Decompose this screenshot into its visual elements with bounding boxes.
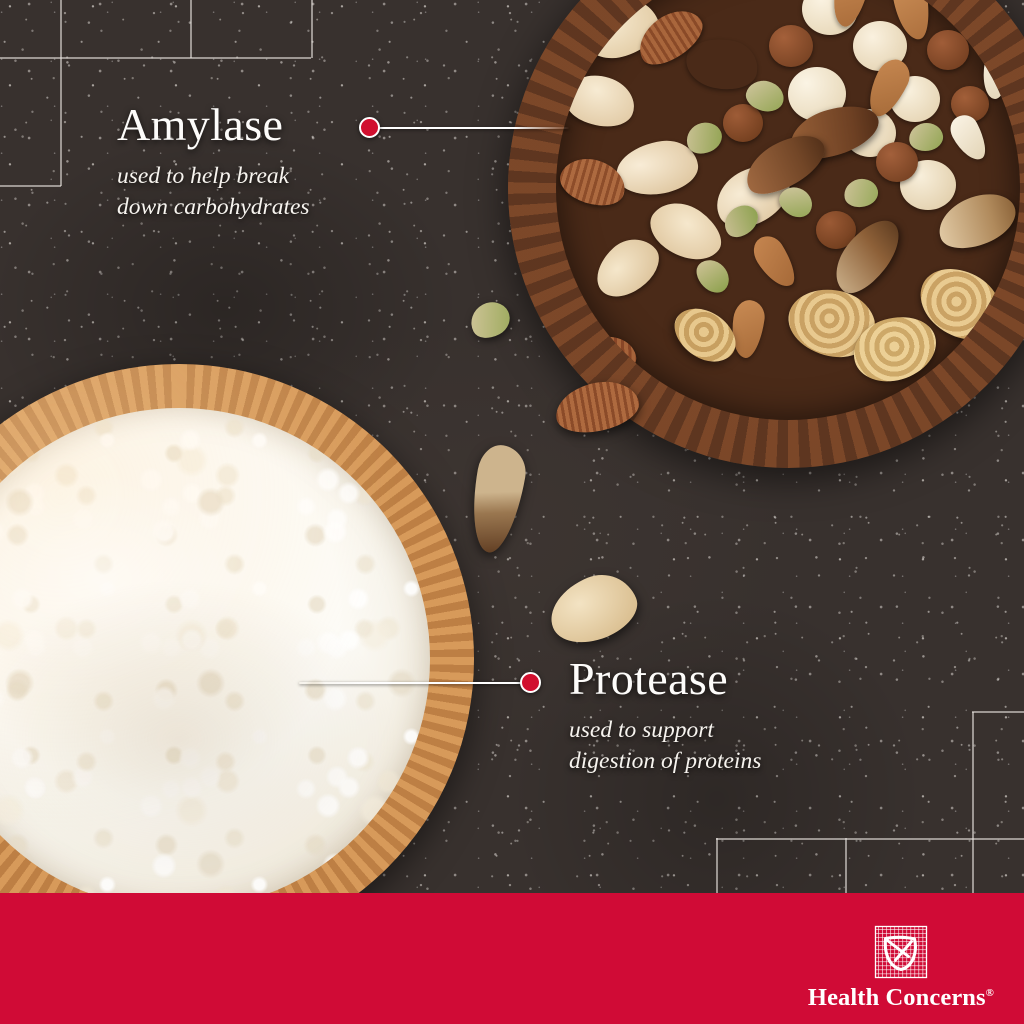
- pecan-nut: [556, 151, 632, 213]
- flour-contents: [0, 408, 430, 911]
- brand-lockup: Health Concerns®: [808, 925, 994, 1011]
- callout-protease: Protease used to support digestion of pr…: [569, 656, 869, 778]
- amylase-title: Amylase: [117, 102, 367, 148]
- amylase-leader-bar: [377, 127, 569, 129]
- hazelnut: [769, 25, 813, 67]
- hazelnut: [927, 30, 969, 70]
- infographic-canvas: Amylase used to help break down carbohyd…: [0, 0, 1024, 1024]
- almond-nut: [748, 231, 803, 294]
- brand-wordmark: Health Concerns®: [808, 986, 994, 1011]
- amylase-subtitle: used to help break down carbohydrates: [117, 161, 367, 224]
- pistachio-nut: [690, 254, 735, 299]
- callout-amylase: Amylase used to help break down carbohyd…: [117, 102, 367, 224]
- amylase-leader-line: [359, 117, 569, 139]
- flour-bowl: [0, 364, 474, 954]
- registered-trademark-symbol: ®: [986, 986, 994, 998]
- protease-leader-dot: [520, 672, 541, 693]
- brand-name-text: Health Concerns: [808, 984, 986, 1011]
- blanched-almond: [946, 110, 993, 166]
- gridded-square-leaf-emblem-icon: [874, 925, 928, 979]
- hazelnut: [723, 104, 763, 142]
- pistachio-nut: [841, 175, 880, 209]
- hazelnut: [876, 142, 918, 182]
- protease-title: Protease: [569, 656, 869, 702]
- protease-subtitle: used to support digestion of proteins: [569, 715, 869, 778]
- brand-banner: Health Concerns®: [0, 893, 1024, 1024]
